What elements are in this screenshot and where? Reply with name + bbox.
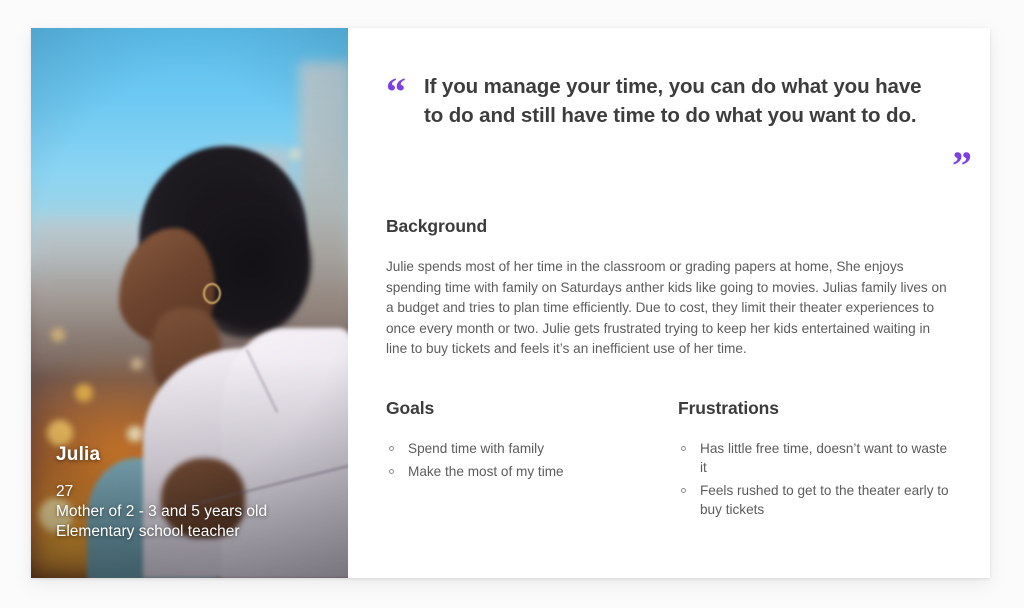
list-item: Has little free time, doesn’t want to wa… [678, 439, 952, 477]
goals-heading: Goals [386, 398, 676, 419]
frustrations-section: Frustrations Has little free time, doesn… [678, 398, 968, 523]
persona-family: Mother of 2 - 3 and 5 years old [56, 502, 267, 522]
frustrations-list: Has little free time, doesn’t want to wa… [678, 439, 968, 519]
persona-details-panel: “ If you manage your time, you can do wh… [348, 28, 1014, 578]
background-section: Background Julie spends most of her time… [386, 216, 968, 360]
persona-quote-text: If you manage your time, you can do what… [424, 72, 938, 130]
persona-occupation: Elementary school teacher [56, 522, 267, 542]
frustrations-heading: Frustrations [678, 398, 968, 419]
persona-name: Julia [56, 444, 267, 466]
persona-age: 27 [56, 482, 267, 502]
goals-list: Spend time with family Make the most of … [386, 439, 676, 481]
quote-open-icon: “ [386, 72, 406, 112]
list-item: Spend time with family [386, 439, 660, 458]
persona-identity-overlay: Julia 27 Mother of 2 - 3 and 5 years old… [56, 444, 267, 542]
list-item: Make the most of my time [386, 462, 660, 481]
goals-frustrations-row: Goals Spend time with family Make the mo… [386, 398, 968, 523]
background-heading: Background [386, 216, 968, 237]
quote-close-icon: ” [952, 146, 972, 186]
background-paragraph: Julie spends most of her time in the cla… [386, 257, 948, 360]
goals-section: Goals Spend time with family Make the mo… [386, 398, 676, 523]
persona-quote-block: “ If you manage your time, you can do wh… [386, 72, 968, 168]
persona-photo: Julia 27 Mother of 2 - 3 and 5 years old… [31, 28, 348, 578]
list-item: Feels rushed to get to the theater early… [678, 481, 952, 519]
persona-card: Julia 27 Mother of 2 - 3 and 5 years old… [31, 28, 990, 578]
